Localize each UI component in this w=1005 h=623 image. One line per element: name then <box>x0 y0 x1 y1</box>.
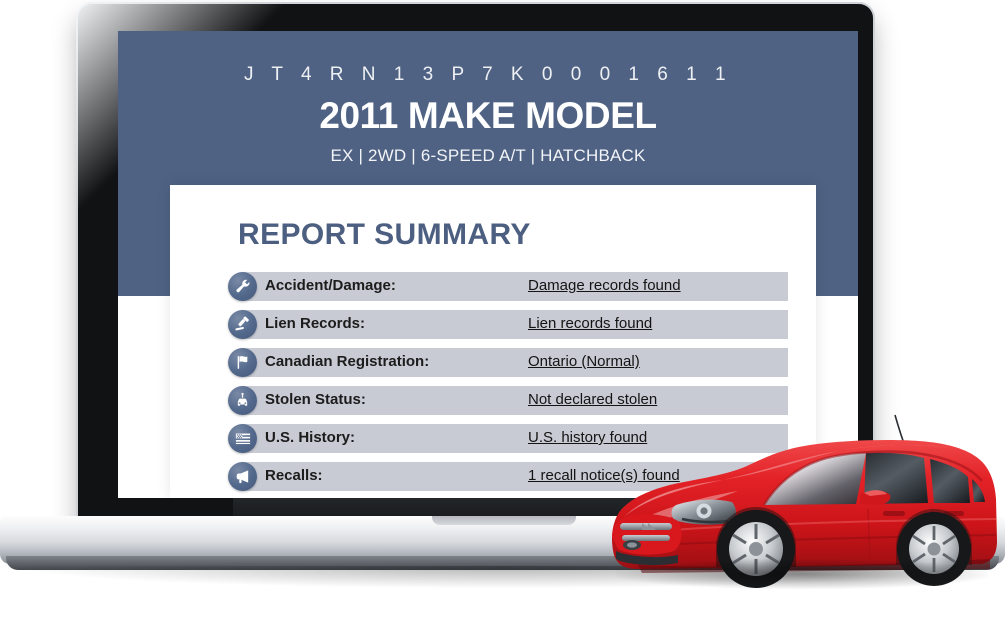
wrench-icon <box>228 272 257 301</box>
table-row[interactable]: Lien Records:Lien records found <box>228 310 788 339</box>
red-hatchback-car <box>598 399 1005 601</box>
row-label: Accident/Damage: <box>265 277 396 294</box>
row-label: Lien Records: <box>265 315 365 332</box>
car-ground-shadow <box>616 559 988 589</box>
gavel-icon <box>228 310 257 339</box>
row-value-link[interactable]: Lien records found <box>528 315 652 332</box>
row-label: Canadian Registration: <box>265 353 429 370</box>
page-title: REPORT SUMMARY <box>238 218 531 252</box>
flag-icon <box>228 348 257 377</box>
vehicle-title: 2011 MAKE MODEL <box>118 95 858 137</box>
vehicle-trim-details: EX | 2WD | 6-SPEED A/T | HATCHBACK <box>118 146 858 166</box>
laptop-base-notch <box>432 516 576 525</box>
us-flag-icon <box>228 424 257 453</box>
row-label: U.S. History: <box>265 429 355 446</box>
megaphone-icon <box>228 462 257 491</box>
row-value-link[interactable]: Damage records found <box>528 277 681 294</box>
table-row[interactable]: Accident/Damage:Damage records found <box>228 272 788 301</box>
row-label: Stolen Status: <box>265 391 366 408</box>
stolen-car-icon <box>228 386 257 415</box>
screenshot-stage: J T 4 R N 1 3 P 7 K 0 0 0 1 6 1 1 2011 M… <box>0 0 1005 623</box>
table-row[interactable]: Canadian Registration:Ontario (Normal) <box>228 348 788 377</box>
row-value-link[interactable]: Ontario (Normal) <box>528 353 640 370</box>
vin-number: J T 4 R N 1 3 P 7 K 0 0 0 1 6 1 1 <box>118 64 858 86</box>
row-label: Recalls: <box>265 467 323 484</box>
